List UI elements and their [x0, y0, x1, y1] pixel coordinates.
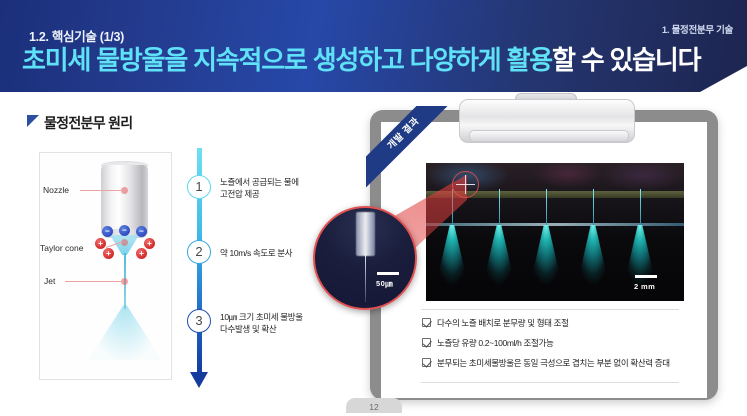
- step-text-3: 10㎛ 크기 초미세 물방울 다수발생 및 확산: [220, 311, 303, 336]
- inset-scale-bar: [377, 272, 399, 275]
- negative-charge-icon: −: [102, 226, 113, 237]
- list-item: 노즐당 유량 0.2~100ml/h 조절가능: [422, 337, 553, 349]
- label-nozzle: Nozzle: [43, 185, 69, 195]
- page-title: 초미세 물방울을 지속적으로 생성하고 다양하게 활용할 수 있습니다: [22, 47, 700, 73]
- photo-needle: [640, 189, 641, 225]
- header-kicker: 1.2. 핵심기술 (1/3): [29, 26, 124, 45]
- step-badge-3: 3: [187, 309, 211, 333]
- inset-scale-label: 50㎛: [376, 278, 393, 289]
- photo-spray-plume: [574, 225, 612, 298]
- triangle-bullet-icon: [27, 115, 39, 127]
- step-badge-1: 1: [187, 175, 211, 199]
- bullet-divider-top: [421, 309, 679, 310]
- step-text-2: 약 10m/s 속도로 분사: [220, 247, 292, 259]
- checkbox-icon: [422, 318, 431, 327]
- jet-leader-line: [65, 281, 121, 282]
- header-breadcrumb-right: 1. 물정전분무 기술: [662, 22, 733, 36]
- inset-nozzle: [356, 212, 375, 256]
- list-item: 다수의 노즐 배치로 분무량 및 형태 조절: [422, 317, 569, 329]
- checkbox-icon: [422, 338, 431, 347]
- slide-root: 1.2. 핵심기술 (1/3) 1. 물정전분무 기술 초미세 물방울을 지속적…: [0, 0, 747, 416]
- principle-diagram: − − − + + + + Nozzle Taylor cone Jet: [39, 152, 172, 380]
- photo-needle: [593, 189, 594, 225]
- clipboard-clip: [459, 99, 635, 143]
- label-taylor-cone: Taylor cone: [40, 243, 83, 253]
- photo-spray-plume: [480, 225, 518, 298]
- positive-charge-icon: +: [103, 248, 114, 259]
- bullet-text: 노즐당 유량 0.2~100ml/h 조절가능: [437, 337, 553, 349]
- spray-plume: [88, 305, 162, 360]
- process-arrow-head-icon: [190, 372, 208, 388]
- photo-spray-plume: [527, 225, 565, 298]
- negative-charge-icon: −: [119, 225, 130, 236]
- checkbox-icon: [422, 358, 431, 367]
- page-title-plain: 할 수 있습니다: [552, 45, 700, 75]
- bullet-text: 분무되는 초미세물방울은 동일 극성으로 겹치는 부분 없이 확산력 증대: [437, 357, 670, 369]
- photo-emitter-bar: [426, 223, 684, 226]
- label-jet: Jet: [44, 276, 55, 286]
- positive-charge-icon: +: [136, 248, 147, 259]
- negative-charge-icon: −: [136, 226, 147, 237]
- jet-callout-dot: [121, 278, 128, 285]
- positive-charge-icon: +: [144, 238, 155, 249]
- bullet-text: 다수의 노즐 배치로 분무량 및 형태 조절: [437, 317, 569, 329]
- inset-jet: [365, 254, 367, 302]
- photo-spray-plume: [433, 225, 471, 298]
- photo-scale-bar: [635, 275, 657, 278]
- step-text-1: 노즐에서 공급되는 물에 고전압 제공: [220, 176, 299, 201]
- photo-needle: [546, 189, 547, 225]
- page-title-highlight: 초미세 물방울을 지속적으로 생성하고 다양하게 활용: [22, 45, 552, 75]
- step-badge-2: 2: [187, 240, 211, 264]
- list-item: 분무되는 초미세물방울은 동일 극성으로 겹치는 부분 없이 확산력 증대: [422, 357, 670, 369]
- photo-needle: [499, 189, 500, 225]
- nozzle-callout-dot: [121, 187, 128, 194]
- positive-charge-icon: +: [95, 238, 106, 249]
- photo-scale-label: 2 mm: [634, 282, 655, 291]
- photo-target-ring-icon: [452, 171, 479, 198]
- microscope-inset: 50㎛: [313, 206, 417, 310]
- section-title-label: 물정전분무 원리: [44, 113, 132, 133]
- bullet-divider-bottom: [421, 382, 679, 383]
- section-heading: 물정전분무 원리: [27, 113, 132, 133]
- nozzle-leader-line: [80, 190, 121, 191]
